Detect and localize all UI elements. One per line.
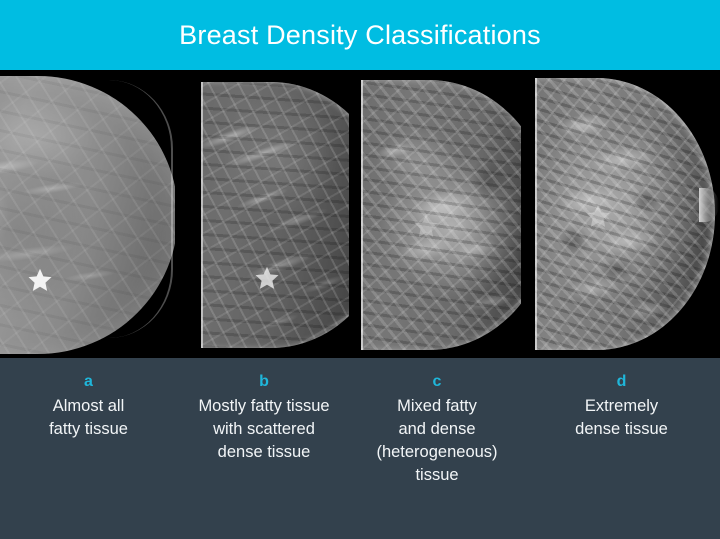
skin-line-a [109,80,173,338]
caption-text-a: Almost all fatty tissue [6,395,171,441]
panel-divider [349,70,352,358]
mammogram-panel-a [0,70,177,358]
star-marker-d [585,203,611,229]
star-marker-b [254,265,280,291]
caption-row: a Almost all fatty tissue b Mostly fatty… [0,358,720,487]
star-marker-a [27,267,53,293]
breast-density-infographic: Breast Density Classifications [0,0,720,539]
skin-line-b [201,82,351,348]
caption-letter-b: b [183,372,345,392]
caption-text-c: Mixed fatty and dense (heterogeneous) ti… [357,395,517,487]
caption-text-d: Extremely dense tissue [529,395,714,441]
skin-line-c [361,80,523,350]
mammogram-image-strip [0,70,720,358]
panel-divider [175,70,178,358]
caption-letter-c: c [357,372,517,392]
panel-divider [521,70,524,358]
page-title: Breast Density Classifications [179,22,541,49]
caption-column-b: b Mostly fatty tissue with scattered den… [177,358,351,487]
caption-letter-a: a [6,372,171,392]
mammogram-panel-b [177,70,351,358]
caption-column-c: c Mixed fatty and dense (heterogeneous) … [351,358,523,487]
mammogram-panel-c [351,70,523,358]
star-marker-c [413,213,439,239]
caption-column-a: a Almost all fatty tissue [0,358,177,487]
header-banner: Breast Density Classifications [0,0,720,70]
caption-text-b: Mostly fatty tissue with scattered dense… [183,395,345,464]
mammogram-panel-d [523,70,720,358]
caption-column-d: d Extremely dense tissue [523,358,720,487]
caption-letter-d: d [529,372,714,392]
caption-area: a Almost all fatty tissue b Mostly fatty… [0,358,720,539]
